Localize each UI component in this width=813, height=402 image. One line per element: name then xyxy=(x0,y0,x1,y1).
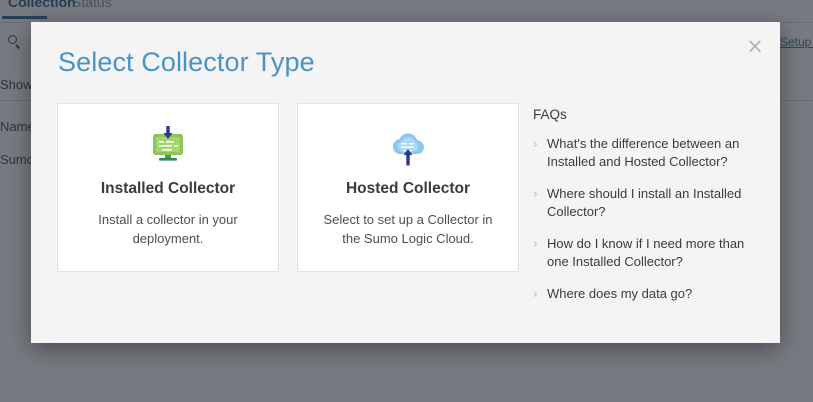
faq-item[interactable]: › How do I know if I need more than one … xyxy=(533,235,757,271)
faq-section: FAQs › What's the difference between an … xyxy=(533,107,757,317)
monitor-download-icon xyxy=(58,125,278,167)
faq-item-label: How do I know if I need more than one In… xyxy=(547,236,744,269)
chevron-right-icon: › xyxy=(533,235,538,253)
card-description: Select to set up a Collector in the Sumo… xyxy=(316,210,500,248)
faq-item-label: What's the difference between an Install… xyxy=(547,136,739,169)
screen: Collection Status Search Show: All Name … xyxy=(0,0,813,402)
collector-type-cards: Installed Collector Install a collector … xyxy=(57,103,519,272)
faq-item-label: Where should I install an Installed Coll… xyxy=(547,186,741,219)
dialog-title: Select Collector Type xyxy=(58,47,315,78)
chevron-right-icon: › xyxy=(533,285,538,303)
cloud-upload-icon xyxy=(298,125,518,167)
faq-item[interactable]: › Where should I install an Installed Co… xyxy=(533,185,757,221)
faq-item[interactable]: › Where does my data go? xyxy=(533,285,757,303)
card-installed-collector[interactable]: Installed Collector Install a collector … xyxy=(57,103,279,272)
card-title: Hosted Collector xyxy=(298,180,518,198)
card-title: Installed Collector xyxy=(58,180,278,198)
card-description: Install a collector in your deployment. xyxy=(76,210,260,248)
chevron-right-icon: › xyxy=(533,185,538,203)
faq-item[interactable]: › What's the difference between an Insta… xyxy=(533,135,757,171)
faq-heading: FAQs xyxy=(533,107,757,122)
chevron-right-icon: › xyxy=(533,135,538,153)
close-icon[interactable]: × xyxy=(743,34,767,58)
card-hosted-collector[interactable]: Hosted Collector Select to set up a Coll… xyxy=(297,103,519,272)
faq-item-label: Where does my data go? xyxy=(547,286,692,301)
select-collector-type-dialog: × Select Collector Type xyxy=(31,22,780,343)
